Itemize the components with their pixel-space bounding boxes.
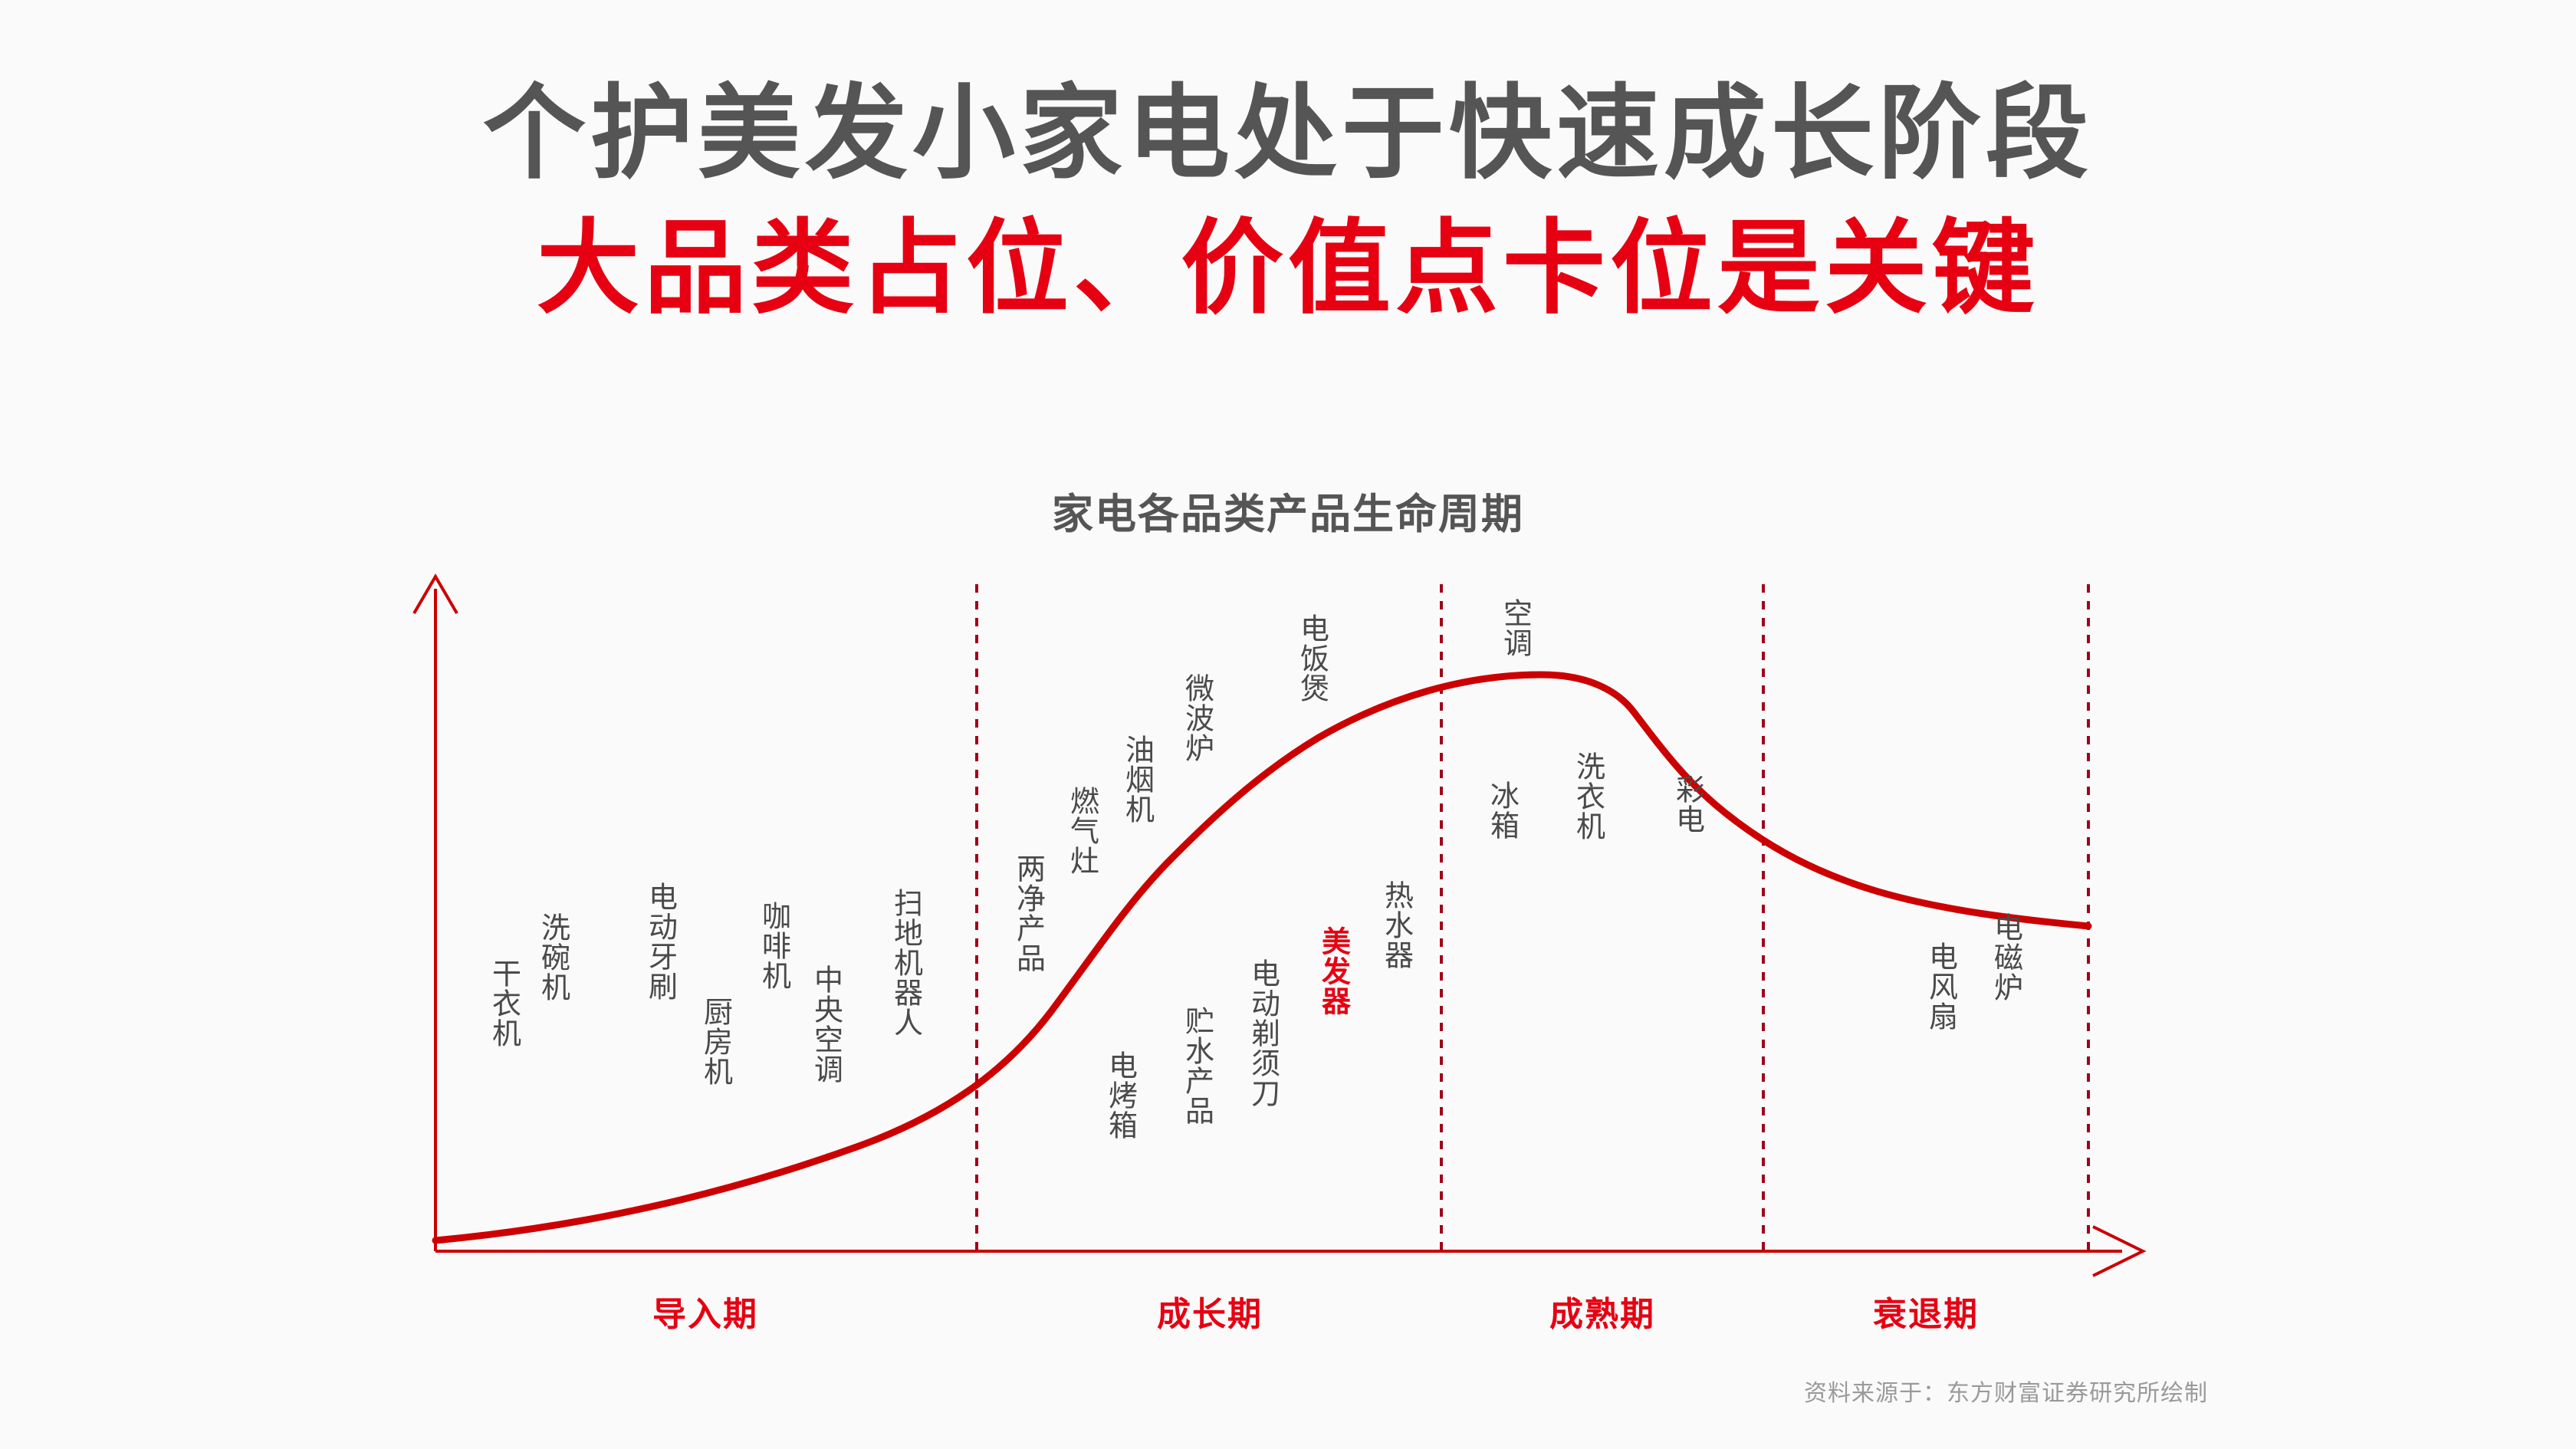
product-label: 扫地机器人 — [889, 888, 920, 1037]
product-label: 洗碗机 — [537, 912, 567, 1002]
stage-dividers — [977, 584, 2088, 1251]
product-label: 空调 — [1499, 598, 1529, 658]
product-label: 冰箱 — [1486, 780, 1516, 840]
product-label: 干衣机 — [488, 958, 518, 1048]
product-label: 电动牙刷 — [644, 882, 675, 1001]
product-label: 电饭煲 — [1296, 613, 1326, 703]
x-axis — [435, 1227, 2143, 1276]
stage-label: 衰退期 — [1873, 1286, 1979, 1336]
chart-canvas — [0, 0, 2576, 1449]
product-label: 微波炉 — [1181, 673, 1211, 763]
product-label: 中央空调 — [810, 964, 840, 1084]
product-label: 电磁炉 — [1990, 912, 2020, 1002]
product-label: 电动剃须刀 — [1247, 958, 1277, 1108]
product-label: 洗衣机 — [1572, 751, 1602, 841]
product-label: 美发器 — [1317, 926, 1348, 1016]
product-label: 电烤箱 — [1104, 1050, 1135, 1140]
product-label: 厨房机 — [699, 997, 730, 1086]
product-label: 燃气灶 — [1066, 786, 1096, 876]
product-label: 两净产品 — [1012, 853, 1043, 973]
stage-label: 成长期 — [1157, 1286, 1263, 1336]
product-label: 油烟机 — [1121, 734, 1152, 824]
stage-label: 成熟期 — [1549, 1286, 1655, 1336]
product-label: 贮水产品 — [1181, 1006, 1211, 1125]
y-axis — [414, 577, 457, 1251]
stage-label: 导入期 — [652, 1286, 758, 1336]
product-label: 电风扇 — [1924, 941, 1955, 1031]
product-label: 咖啡机 — [757, 901, 788, 991]
product-lifecycle-chart: 干衣机洗碗机电动牙刷厨房机咖啡机中央空调扫地机器人两净产品燃气灶油烟机微波炉电饭… — [0, 0, 2576, 1449]
product-label: 彩电 — [1671, 774, 1702, 834]
product-label: 热水器 — [1380, 880, 1411, 970]
lifecycle-curve — [435, 675, 2088, 1240]
source-note: 资料来源于：东方财富证券研究所绘制 — [1804, 1374, 2208, 1408]
